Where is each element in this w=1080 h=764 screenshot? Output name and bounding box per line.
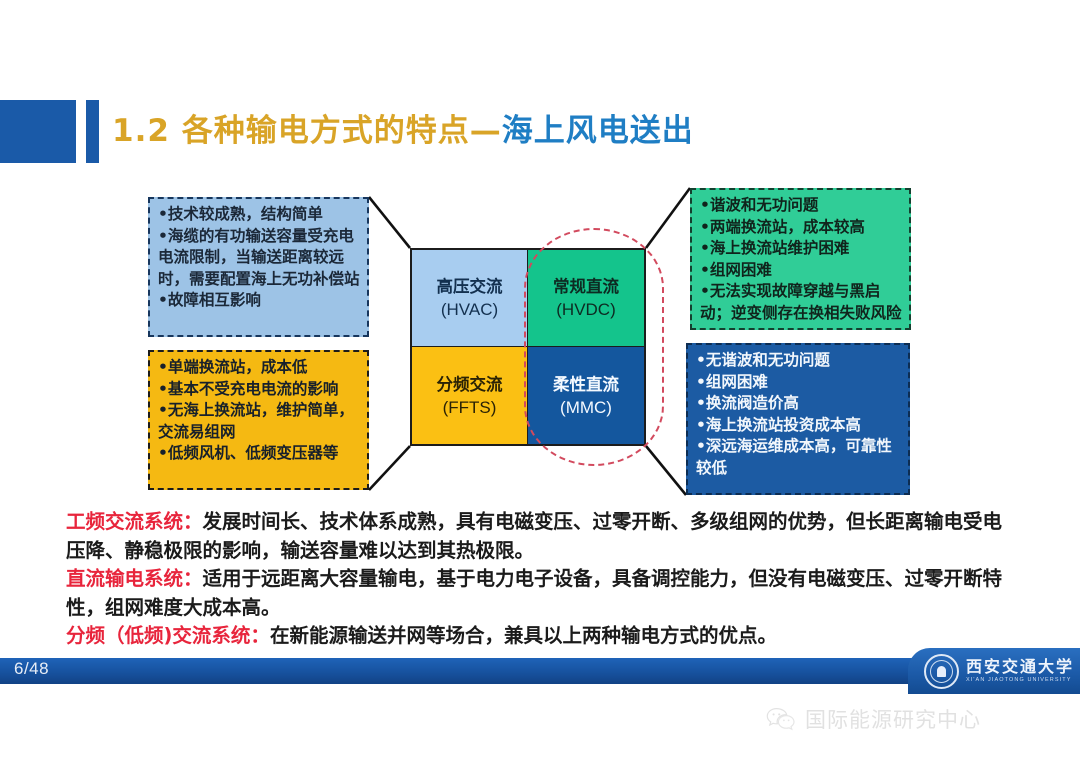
- matrix-cell-ffts[interactable]: 分频交流 (FFTS): [412, 347, 528, 444]
- matrix-cell-hvdc-en: (HVDC): [556, 298, 616, 321]
- matrix-cell-hvac-en: (HVAC): [441, 298, 498, 321]
- callout-hvac-features: •技术较成熟，结构简单 •海缆的有功输送容量受充电电流限制，当输送距离较远时，需…: [148, 197, 369, 337]
- matrix-cell-ffts-en: (FFTS): [443, 396, 497, 419]
- matrix-cell-mmc[interactable]: 柔性直流 (MMC): [528, 347, 644, 444]
- wechat-icon: [766, 707, 796, 731]
- paragraph-ffts-system: 分频（低频)交流系统：在新能源输送并网等场合，兼具以上两种输电方式的优点。: [66, 622, 1016, 651]
- paragraph-ac-system-sep: ：: [183, 510, 203, 533]
- title-accent-bar: [86, 100, 99, 163]
- transmission-type-matrix: 高压交流 (HVAC) 常规直流 (HVDC) 分频交流 (FFTS) 柔性直流…: [410, 248, 646, 446]
- callout-ffts-features: •单端换流站，成本低 •基本不受充电电流的影响 •无海上换流站，维护简单，交流易…: [148, 350, 369, 490]
- university-seal-icon: [924, 654, 959, 689]
- paragraph-dc-system-lead: 直流输电系统: [66, 567, 183, 590]
- page-title-highlight: 海上风电送出: [502, 113, 694, 149]
- callout-hvdc-features: •谐波和无功问题 •两端换流站，成本较高 •海上换流站维护困难 •组网困难 •无…: [690, 188, 911, 330]
- university-logo-text: 西安交通大学 XI'AN JIAOTONG UNIVERSITY: [966, 659, 1074, 684]
- callout-mmc-features: •无谐波和无功问题 •组网困难 •换流阀造价高 •海上换流站投资成本高 •深远海…: [686, 343, 910, 495]
- paragraph-ffts-system-lead: 分频（低频)交流系统: [66, 624, 250, 647]
- title-accent-block: [0, 100, 76, 163]
- matrix-cell-ffts-cn: 分频交流: [437, 373, 503, 396]
- matrix-cell-hvac[interactable]: 高压交流 (HVAC): [412, 250, 528, 347]
- paragraph-ffts-system-sep: ：: [250, 624, 270, 647]
- matrix-cell-hvac-cn: 高压交流: [437, 275, 503, 298]
- page-title-main: 1.2 各种输电方式的特点—: [112, 113, 502, 149]
- university-name-en: XI'AN JIAOTONG UNIVERSITY: [966, 678, 1074, 684]
- paragraph-ac-system: 工频交流系统：发展时间长、技术体系成熟，具有电磁变压、过零开断、多级组网的优势，…: [66, 508, 1016, 565]
- page-number: 6/48: [14, 659, 49, 679]
- paragraph-dc-system-sep: ：: [183, 567, 203, 590]
- paragraph-ffts-system-body: 在新能源输送并网等场合，兼具以上两种输电方式的优点。: [270, 624, 777, 647]
- matrix-cell-hvdc[interactable]: 常规直流 (HVDC): [528, 250, 644, 347]
- paragraph-dc-system: 直流输电系统：适用于远距离大容量输电，基于电力电子设备，具备调控能力，但没有电磁…: [66, 565, 1016, 622]
- page-title: 1.2 各种输电方式的特点—海上风电送出: [112, 103, 694, 159]
- slide-canvas: 1.2 各种输电方式的特点—海上风电送出 •技术较成熟，结构简单 •海缆的有功输…: [0, 0, 1080, 764]
- university-name-cn: 西安交通大学: [966, 659, 1074, 675]
- matrix-cell-mmc-en: (MMC): [560, 396, 612, 419]
- matrix-cell-hvdc-cn: 常规直流: [553, 275, 619, 298]
- university-logo: 西安交通大学 XI'AN JIAOTONG UNIVERSITY: [908, 648, 1080, 694]
- matrix-cell-mmc-cn: 柔性直流: [553, 373, 619, 396]
- paragraph-dc-system-body: 适用于远距离大容量输电，基于电力电子设备，具备调控能力，但没有电磁变压、过零开断…: [66, 567, 1002, 619]
- paragraph-ac-system-lead: 工频交流系统: [66, 510, 183, 533]
- summary-paragraphs: 工频交流系统：发展时间长、技术体系成熟，具有电磁变压、过零开断、多级组网的优势，…: [66, 508, 1016, 651]
- paragraph-ac-system-body: 发展时间长、技术体系成熟，具有电磁变压、过零开断、多级组网的优势，但长距离输电受…: [66, 510, 1002, 562]
- wechat-watermark: 国际能源研究中心: [766, 704, 981, 734]
- watermark-text: 国际能源研究中心: [805, 704, 981, 734]
